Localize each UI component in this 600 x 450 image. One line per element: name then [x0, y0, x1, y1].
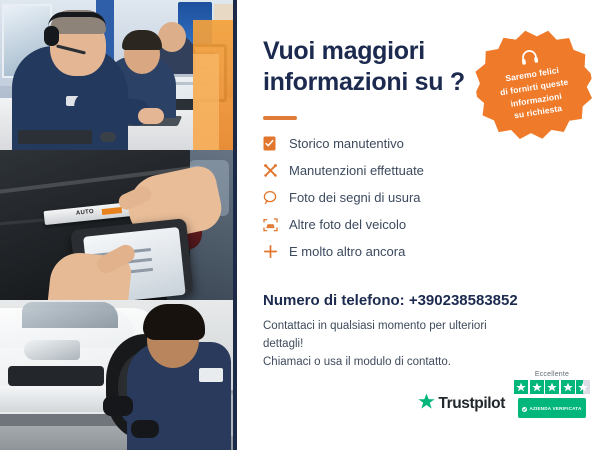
crossed-tools-icon — [263, 160, 289, 182]
star-rating — [514, 380, 590, 394]
page-title: Vuoi maggiori informazioni su ? — [263, 36, 483, 97]
car-frame-icon — [263, 214, 289, 236]
uniform-logo-patch — [199, 368, 223, 382]
list-item-label: E molto altro ancora — [289, 244, 405, 259]
star-filled — [530, 380, 544, 394]
rating-label: Eccellente — [535, 371, 569, 378]
contact-subtext: Contattaci in qualsiasi momento per ulte… — [263, 318, 513, 371]
mechanic-glove-lower — [131, 420, 159, 438]
mechanic-hair — [143, 304, 205, 340]
star-filled — [561, 380, 575, 394]
title-underline — [263, 116, 297, 120]
plus-icon — [263, 241, 289, 263]
star-filled — [545, 380, 559, 394]
front-grille — [8, 366, 104, 386]
list-item: Foto dei segni di usura — [263, 184, 503, 211]
feature-list: Storico manutentivo Manutenzioni effettu… — [263, 130, 503, 265]
keyboard — [18, 130, 92, 144]
verified-label: AZIENDA VERIFICATA — [529, 406, 581, 411]
mechanic-glove-upper — [103, 396, 133, 416]
mouse — [100, 132, 116, 142]
contact-subtext-line1: Contattaci in qualsiasi momento per ulte… — [263, 318, 513, 354]
contact-subtext-line2: Chiamaci o usa il modulo di contatto. — [263, 354, 513, 372]
verified-check-icon — [522, 399, 527, 417]
list-item-label: Manutenzioni effettuate — [289, 163, 424, 178]
list-item-label: Storico manutentivo — [289, 136, 404, 151]
column-divider — [233, 0, 237, 450]
list-item-label: Foto dei segni di usura — [289, 190, 421, 205]
list-item: E molto altro ancora — [263, 238, 503, 265]
star-half — [576, 380, 590, 394]
agent-background-first-hair — [122, 30, 162, 50]
list-item: Manutenzioni effettuate — [263, 157, 503, 184]
paint-gauge-tablet-inspection-photo: AUTO — [0, 150, 237, 300]
call-center-agents-photo — [0, 0, 237, 150]
agent-background-second-head — [158, 22, 186, 52]
trustpilot-wordmark: Trustpilot — [438, 395, 505, 413]
gauge-brand-text: AUTO — [76, 209, 95, 217]
magnifier-icon — [263, 187, 289, 209]
callout-badge: Saremo felici di fornirti queste informa… — [468, 20, 600, 153]
orange-foreground-blur-inner — [193, 54, 219, 150]
trustpilot-rating: Eccellente AZIENDA VERIFICATA — [514, 371, 590, 418]
windshield — [22, 302, 118, 328]
list-item-label: Altre foto del veicolo — [289, 217, 406, 232]
phone-line: Numero di telefono: +390238583852 — [263, 292, 518, 309]
headset-band — [48, 12, 106, 27]
star-filled — [514, 380, 528, 394]
trustpilot-widget[interactable]: Trustpilot Eccellente AZIENDA VERIFICATA — [418, 371, 590, 418]
verified-business-badge: AZIENDA VERIFICATA — [518, 398, 585, 418]
checklist-document-icon — [263, 133, 289, 155]
content-panel: Vuoi maggiori informazioni su ? Storico … — [237, 0, 600, 450]
list-item: Storico manutentivo — [263, 130, 503, 157]
mechanic-wheel-inspection-photo — [0, 300, 237, 450]
headset-earcup — [44, 26, 59, 46]
headlight — [24, 340, 80, 360]
gauge-brand-accent — [102, 207, 123, 215]
agent-hand — [138, 108, 164, 124]
photo-column: AUTO — [0, 0, 237, 450]
promo-banner: AUTO — [0, 0, 600, 450]
trustpilot-logo[interactable]: Trustpilot — [418, 393, 505, 418]
trustpilot-star-icon — [418, 393, 435, 415]
list-item: Altre foto del veicolo — [263, 211, 503, 238]
